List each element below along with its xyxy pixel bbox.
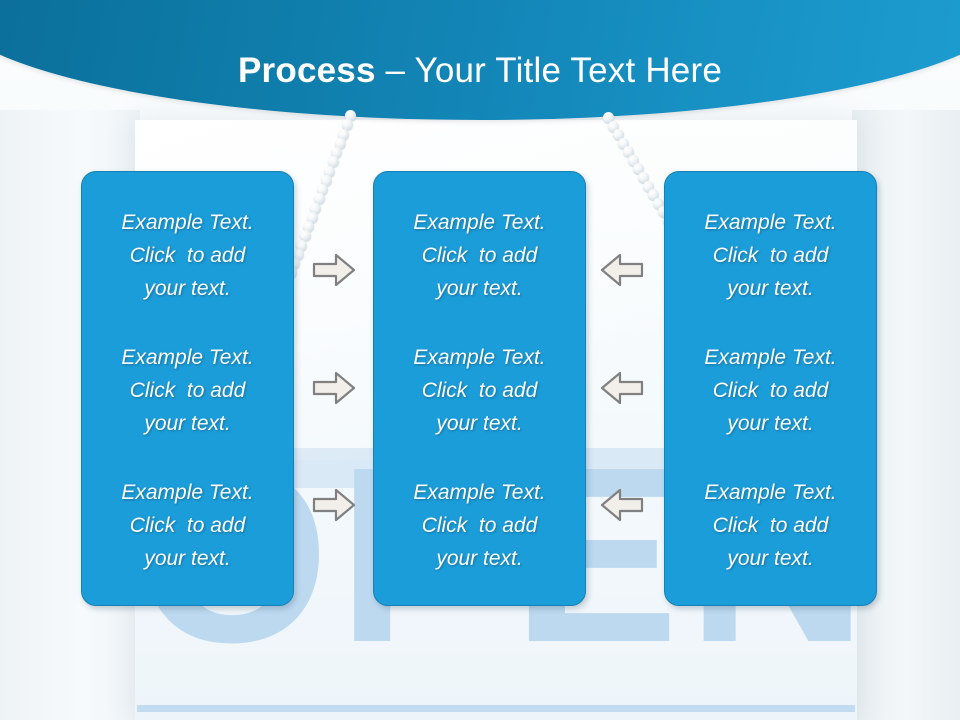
process-box-1-item-2: Example Text.Click to addyour text. bbox=[94, 341, 281, 440]
process-box-3-item-2: Example Text.Click to addyour text. bbox=[677, 341, 864, 440]
process-box-1-item-1: Example Text.Click to addyour text. bbox=[94, 206, 281, 305]
process-box-3-item-1: Example Text.Click to addyour text. bbox=[677, 206, 864, 305]
arrow-left-icon bbox=[598, 250, 646, 290]
process-text-line: Click to add bbox=[386, 509, 573, 542]
arrow-right-icon bbox=[310, 368, 358, 408]
process-text-line: Example Text. bbox=[386, 476, 573, 509]
process-box-1[interactable]: Example Text.Click to addyour text. Exam… bbox=[81, 171, 294, 606]
process-text-line: your text. bbox=[677, 407, 864, 440]
slide-canvas: OPEN Process – Your Title Text Here Exam… bbox=[0, 0, 960, 720]
process-box-3[interactable]: Example Text.Click to addyour text. Exam… bbox=[664, 171, 877, 606]
process-box-2-item-2: Example Text.Click to addyour text. bbox=[386, 341, 573, 440]
process-text-line: Example Text. bbox=[94, 476, 281, 509]
open-sign-bottom-line bbox=[137, 705, 855, 712]
process-text-line: your text. bbox=[386, 272, 573, 305]
process-text-line: Click to add bbox=[677, 239, 864, 272]
arrow-right-icon bbox=[310, 485, 358, 525]
process-text-line: Example Text. bbox=[94, 341, 281, 374]
process-text-line: Example Text. bbox=[677, 476, 864, 509]
arrow-left-icon bbox=[598, 485, 646, 525]
page-title: Process – Your Title Text Here bbox=[0, 50, 960, 92]
process-text-line: Click to add bbox=[677, 509, 864, 542]
process-text-line: your text. bbox=[386, 542, 573, 575]
process-text-line: your text. bbox=[94, 272, 281, 305]
process-box-2-item-3: Example Text.Click to addyour text. bbox=[386, 476, 573, 575]
process-text-line: your text. bbox=[94, 542, 281, 575]
page-title-strong: Process bbox=[238, 51, 376, 90]
process-text-line: your text. bbox=[677, 542, 864, 575]
page-title-light: – Your Title Text Here bbox=[376, 51, 722, 90]
process-text-line: Example Text. bbox=[386, 206, 573, 239]
process-box-2[interactable]: Example Text.Click to addyour text. Exam… bbox=[373, 171, 586, 606]
process-text-line: your text. bbox=[386, 407, 573, 440]
process-box-3-item-3: Example Text.Click to addyour text. bbox=[677, 476, 864, 575]
process-text-line: your text. bbox=[94, 407, 281, 440]
process-text-line: Click to add bbox=[94, 239, 281, 272]
process-box-1-item-3: Example Text.Click to addyour text. bbox=[94, 476, 281, 575]
process-box-2-item-1: Example Text.Click to addyour text. bbox=[386, 206, 573, 305]
process-text-line: Click to add bbox=[386, 239, 573, 272]
process-text-line: Click to add bbox=[94, 509, 281, 542]
process-text-line: Example Text. bbox=[94, 206, 281, 239]
process-text-line: Example Text. bbox=[677, 341, 864, 374]
process-text-line: Click to add bbox=[677, 374, 864, 407]
process-text-line: Example Text. bbox=[386, 341, 573, 374]
arrow-right-icon bbox=[310, 250, 358, 290]
process-text-line: Click to add bbox=[386, 374, 573, 407]
arrow-left-icon bbox=[598, 368, 646, 408]
process-text-line: Click to add bbox=[94, 374, 281, 407]
process-text-line: your text. bbox=[677, 272, 864, 305]
process-text-line: Example Text. bbox=[677, 206, 864, 239]
